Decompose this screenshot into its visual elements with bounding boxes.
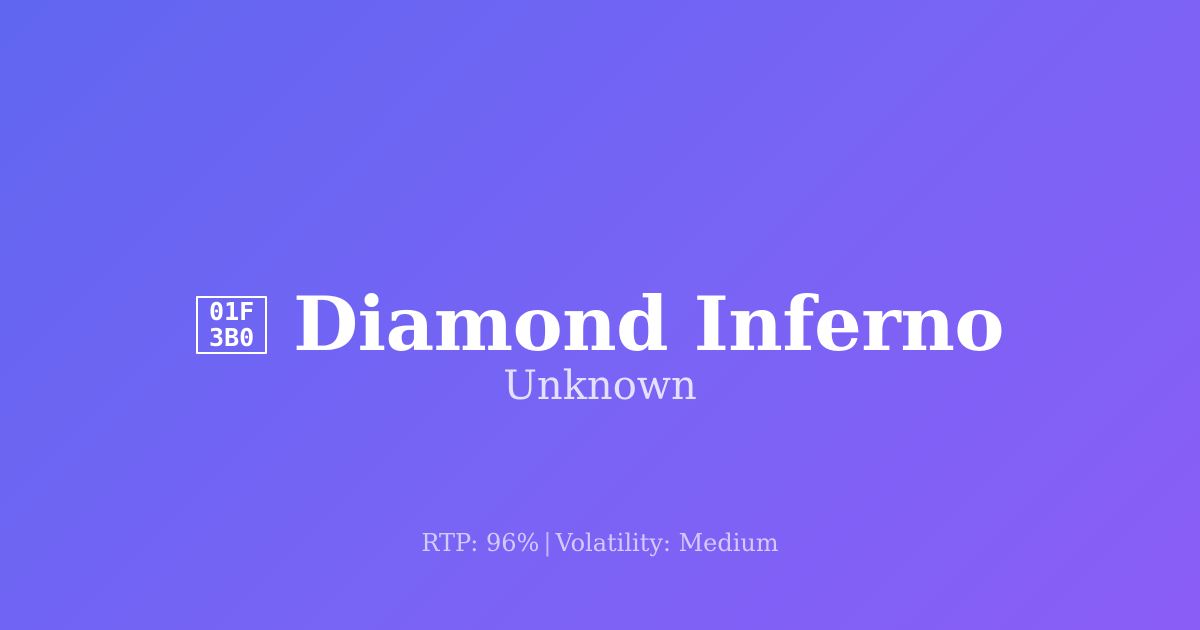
page-title: Diamond Inferno <box>293 284 1004 364</box>
slot-machine-icon: 01F 3B0 <box>196 296 267 354</box>
codepoint-top-row: 01F <box>209 299 254 325</box>
volatility-value: Volatility: Medium <box>555 529 778 557</box>
rtp-value: RTP: 96% <box>421 529 539 557</box>
game-share-card: 01F 3B0 Diamond Inferno Unknown RTP: 96%… <box>0 0 1200 630</box>
stats-separator: | <box>539 529 555 557</box>
codepoint-bottom-row: 3B0 <box>209 325 254 351</box>
game-provider-label: Unknown <box>0 362 1200 410</box>
game-stats-line: RTP: 96%|Volatility: Medium <box>0 528 1200 558</box>
